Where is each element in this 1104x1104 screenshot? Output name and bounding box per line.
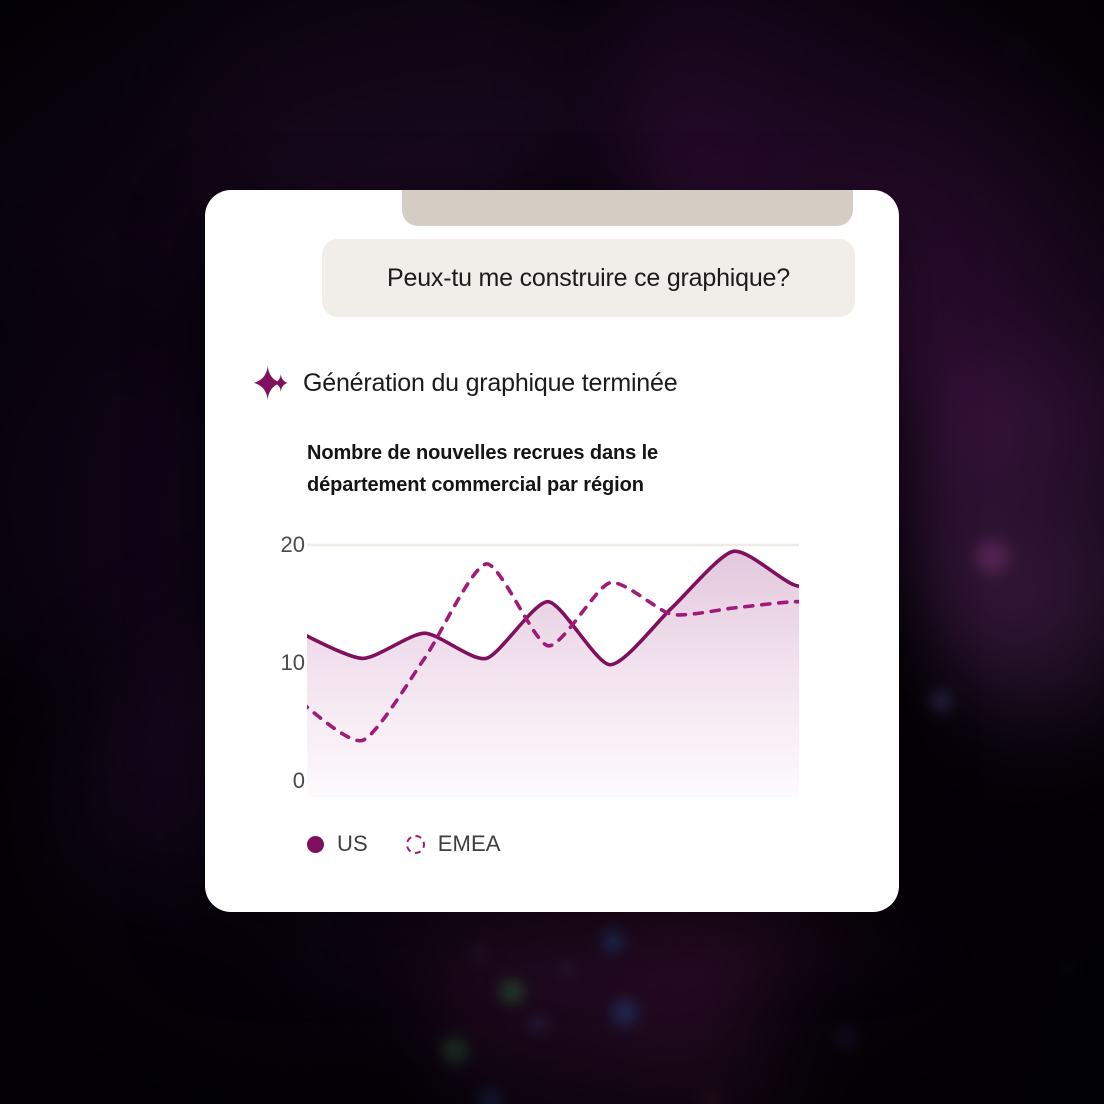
- generation-status-row: Génération du graphique terminée: [251, 363, 677, 403]
- chart-plot-area: 20 10 0: [307, 529, 899, 789]
- user-message-bubble: Peux-tu me construire ce graphique?: [322, 239, 855, 317]
- legend-dot-icon: [307, 836, 324, 853]
- series-us-area: [307, 551, 857, 797]
- chart-legend: US EMEA: [307, 831, 501, 857]
- line-area-chart: [307, 529, 899, 797]
- y-axis-tick-10: 10: [245, 650, 305, 676]
- legend-label-emea: EMEA: [438, 831, 501, 857]
- y-axis-tick-20: 20: [245, 532, 305, 558]
- previous-message-bubble: [402, 190, 853, 226]
- legend-item-emea[interactable]: EMEA: [406, 831, 501, 857]
- legend-item-us[interactable]: US: [307, 831, 368, 857]
- y-axis-tick-0: 0: [245, 768, 305, 794]
- legend-label-us: US: [337, 831, 368, 857]
- generation-status-text: Génération du graphique terminée: [303, 369, 677, 398]
- chart-title: Nombre de nouvelles recrues dans le dépa…: [307, 438, 727, 501]
- chart-container: Nombre de nouvelles recrues dans le dépa…: [307, 438, 899, 789]
- user-message-text: Peux-tu me construire ce graphique?: [387, 264, 790, 293]
- sparkle-icon: [251, 363, 289, 403]
- legend-dashed-ring-icon: [406, 835, 425, 854]
- chat-card: Peux-tu me construire ce graphique? Géné…: [205, 190, 899, 912]
